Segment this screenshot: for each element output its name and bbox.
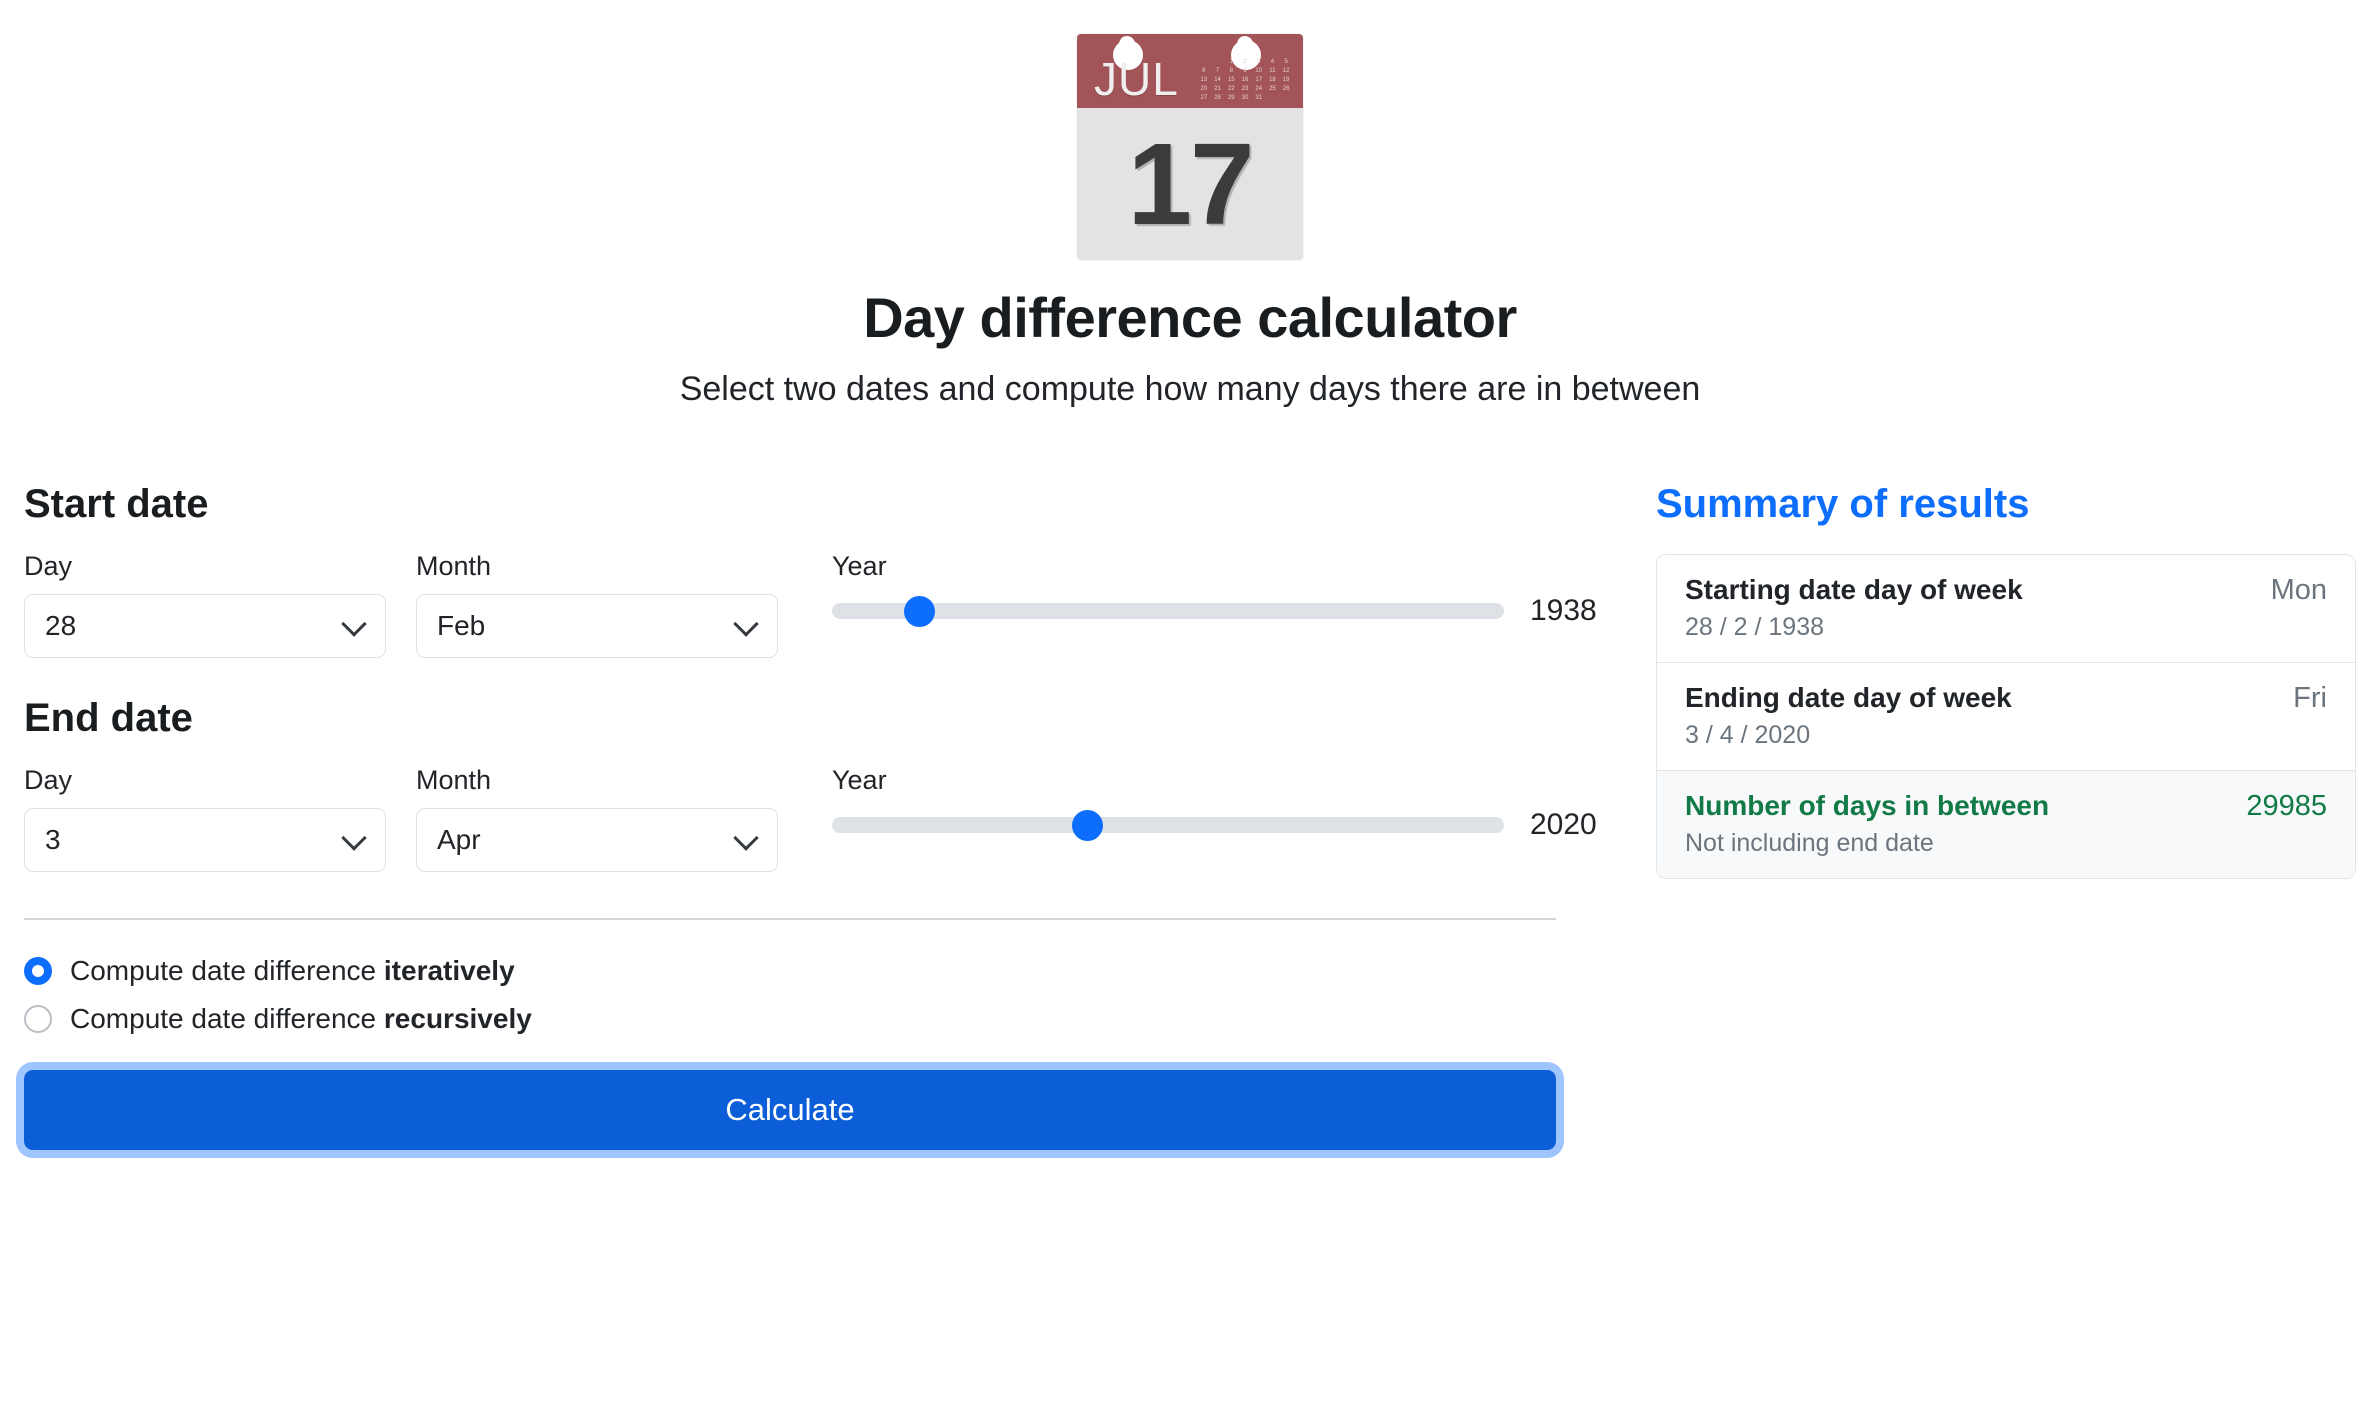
summary-item-sublabel: 3 / 4 / 2020 xyxy=(1685,720,2012,750)
radio-mark-iteratively[interactable] xyxy=(24,957,52,985)
start-year-slider-thumb[interactable] xyxy=(904,596,935,627)
start-day-select[interactable]: 28 xyxy=(24,594,386,658)
summary-item-text: Ending date day of week3 / 4 / 2020 xyxy=(1685,681,2012,750)
start-month-field: Month Feb xyxy=(416,550,778,658)
end-year-label: Year xyxy=(832,764,1610,796)
end-month-label: Month xyxy=(416,764,778,796)
calendar-grid-cell: 13 xyxy=(1197,76,1211,84)
calendar-grid-cell: 2 xyxy=(1238,58,1252,66)
summary-item: Ending date day of week3 / 4 / 2020Fri xyxy=(1657,663,2355,771)
calendar-grid-cell: 30 xyxy=(1238,94,1252,102)
calendar-grid-cell: 9 xyxy=(1238,67,1252,75)
start-month-select[interactable]: Feb xyxy=(416,594,778,658)
calendar-grid-cell: 3 xyxy=(1252,58,1266,66)
end-year-slider-thumb[interactable] xyxy=(1072,810,1103,841)
start-day-label: Day xyxy=(24,550,386,582)
calendar-grid-cell: 17 xyxy=(1252,76,1266,84)
calendar-grid-cell: 25 xyxy=(1266,85,1280,93)
compute-mode-radio-group: Compute date difference iteratively Comp… xyxy=(24,954,1600,1036)
summary-item-sublabel: Not including end date xyxy=(1685,828,2049,858)
end-date-fields: Day 3 Month Apr Year 2 xyxy=(24,764,1600,872)
calendar-grid-cell: 20 xyxy=(1197,85,1211,93)
radio-option-recursively[interactable]: Compute date difference recursively xyxy=(24,1002,1600,1036)
summary-item-value: Fri xyxy=(2273,681,2327,715)
radio-option-iteratively[interactable]: Compute date difference iteratively xyxy=(24,954,1600,988)
start-date-heading: Start date xyxy=(24,480,1600,528)
calendar-grid-cell: 21 xyxy=(1211,85,1225,93)
summary-card: Starting date day of week28 / 2 / 1938Mo… xyxy=(1656,554,2356,879)
main-content: Start date Day 28 Month Feb Year xyxy=(0,480,2380,1150)
page-title: Day difference calculator xyxy=(0,286,2380,350)
start-day-field: Day 28 xyxy=(24,550,386,658)
summary-item: Starting date day of week28 / 2 / 1938Mo… xyxy=(1657,555,2355,663)
calendar-grid-cell: 23 xyxy=(1238,85,1252,93)
calendar-grid-cell: 6 xyxy=(1197,67,1211,75)
calendar-grid-cell: 24 xyxy=(1252,85,1266,93)
calendar-grid-cell: 15 xyxy=(1224,76,1238,84)
start-month-value: Feb xyxy=(437,610,485,642)
calendar-grid-cell: 5 xyxy=(1279,58,1293,66)
summary-column: Summary of results Starting date day of … xyxy=(1600,480,2356,879)
radio-emphasis-iteratively: iteratively xyxy=(384,955,515,986)
start-date-fields: Day 28 Month Feb Year xyxy=(24,550,1600,658)
end-year-slider[interactable] xyxy=(832,817,1504,833)
radio-emphasis-recursively: recursively xyxy=(384,1003,532,1034)
chevron-down-icon xyxy=(733,611,758,636)
start-year-slider[interactable] xyxy=(832,603,1504,619)
spiral-calendar-icon: JUL 123456789101112131415161718192021222… xyxy=(1077,34,1303,260)
calendar-grid-cell: 8 xyxy=(1224,67,1238,75)
start-year-field: Year 1938 xyxy=(832,550,1610,628)
end-day-label: Day xyxy=(24,764,386,796)
chevron-down-icon xyxy=(341,825,366,850)
calendar-grid-cell: 26 xyxy=(1279,85,1293,93)
calendar-grid-cell: 19 xyxy=(1279,76,1293,84)
summary-item: Number of days in betweenNot including e… xyxy=(1657,771,2355,878)
calendar-grid-cell xyxy=(1211,58,1225,66)
end-year-slider-wrap: 2020 xyxy=(832,808,1610,842)
summary-item-sublabel: 28 / 2 / 1938 xyxy=(1685,612,2023,642)
calendar-grid-cell: 29 xyxy=(1224,94,1238,102)
calendar-grid-cell: 10 xyxy=(1252,67,1266,75)
start-day-value: 28 xyxy=(45,610,76,642)
chevron-down-icon xyxy=(733,825,758,850)
calendar-grid-cell xyxy=(1197,58,1211,66)
start-year-slider-wrap: 1938 xyxy=(832,594,1610,628)
calendar-grid-cell: 28 xyxy=(1211,94,1225,102)
radio-mark-recursively[interactable] xyxy=(24,1005,52,1033)
end-year-field: Year 2020 xyxy=(832,764,1610,842)
date-form-column: Start date Day 28 Month Feb Year xyxy=(24,480,1600,1150)
summary-title: Summary of results xyxy=(1656,480,2356,528)
calendar-grid-cell: 14 xyxy=(1211,76,1225,84)
start-month-label: Month xyxy=(416,550,778,582)
calendar-day-number: 17 xyxy=(1077,108,1303,260)
calendar-grid-cell: 1 xyxy=(1224,58,1238,66)
summary-item-label: Ending date day of week xyxy=(1685,681,2012,715)
calendar-grid-cell: 22 xyxy=(1224,85,1238,93)
end-month-field: Month Apr xyxy=(416,764,778,872)
summary-item-text: Number of days in betweenNot including e… xyxy=(1685,789,2049,858)
end-day-select[interactable]: 3 xyxy=(24,808,386,872)
start-year-label: Year xyxy=(832,550,1610,582)
radio-label-iteratively: Compute date difference iteratively xyxy=(70,954,515,988)
calendar-grid-cell: 7 xyxy=(1211,67,1225,75)
start-year-value: 1938 xyxy=(1530,594,1610,628)
summary-item-value: 29985 xyxy=(2226,789,2327,823)
calendar-grid-cell: 18 xyxy=(1266,76,1280,84)
end-date-heading: End date xyxy=(24,694,1600,742)
end-month-value: Apr xyxy=(437,824,481,856)
calendar-grid-cell: 11 xyxy=(1266,67,1280,75)
calendar-grid-cell: 16 xyxy=(1238,76,1252,84)
page-subtitle: Select two dates and compute how many da… xyxy=(0,368,2380,410)
summary-item-text: Starting date day of week28 / 2 / 1938 xyxy=(1685,573,2023,642)
calendar-grid-cell: 4 xyxy=(1266,58,1280,66)
calendar-month-label: JUL xyxy=(1094,56,1179,102)
radio-prefix-iteratively: Compute date difference xyxy=(70,955,384,986)
calendar-mini-grid: 1234567891011121314151617181920212223242… xyxy=(1197,58,1293,103)
radio-prefix-recursively: Compute date difference xyxy=(70,1003,384,1034)
calendar-grid-cell: 31 xyxy=(1252,94,1266,102)
summary-item-label: Starting date day of week xyxy=(1685,573,2023,607)
calendar-grid-cell: 12 xyxy=(1279,67,1293,75)
summary-item-value: Mon xyxy=(2251,573,2327,607)
page-header: JUL 123456789101112131415161718192021222… xyxy=(0,0,2380,410)
radio-label-recursively: Compute date difference recursively xyxy=(70,1002,532,1036)
chevron-down-icon xyxy=(341,611,366,636)
end-year-value: 2020 xyxy=(1530,808,1610,842)
end-day-value: 3 xyxy=(45,824,61,856)
calendar-grid-cell xyxy=(1266,94,1280,102)
form-divider xyxy=(24,918,1556,920)
summary-item-label: Number of days in between xyxy=(1685,789,2049,823)
calendar-grid-cell xyxy=(1279,94,1293,102)
end-month-select[interactable]: Apr xyxy=(416,808,778,872)
calendar-grid-cell: 27 xyxy=(1197,94,1211,102)
calculate-button[interactable]: Calculate xyxy=(24,1070,1556,1150)
end-day-field: Day 3 xyxy=(24,764,386,872)
